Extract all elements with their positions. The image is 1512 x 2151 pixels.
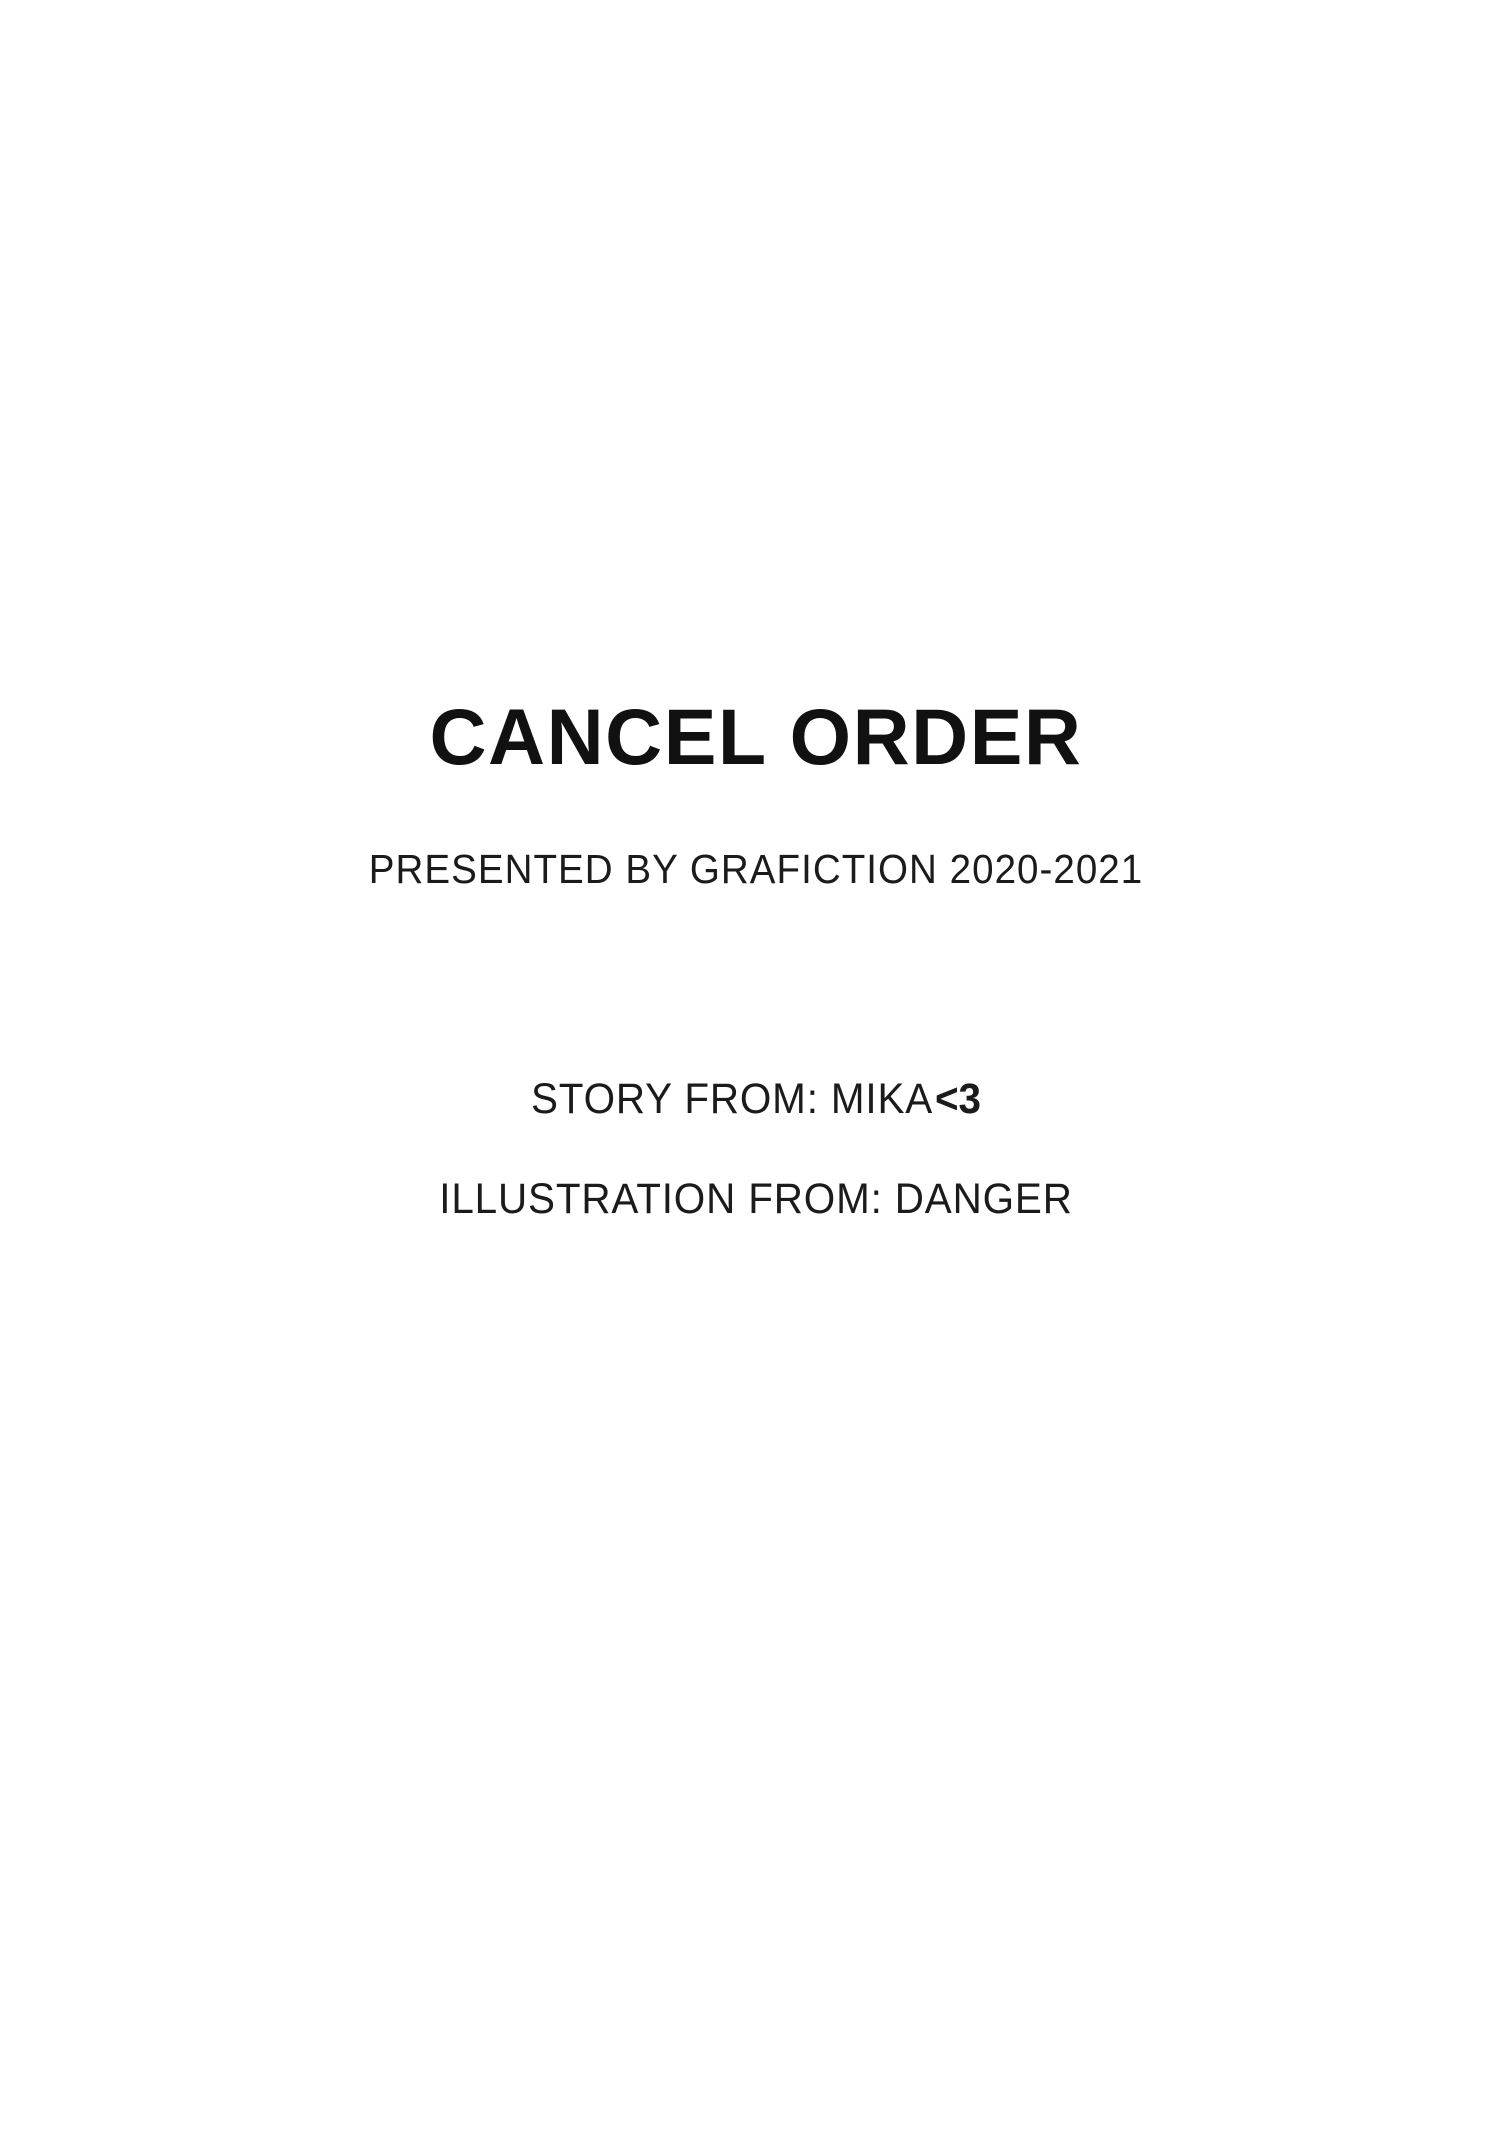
heart-emoticon-icon: <3 (935, 1075, 981, 1123)
story-credit-label: STORY FROM: MIKA (531, 1075, 933, 1123)
illustration-credit-line: ILLUSTRATION FROM: DANGER (45, 1172, 1466, 1226)
title-page: CANCEL ORDER PRESENTED BY GRAFICTION 202… (0, 0, 1512, 2151)
page-title: CANCEL ORDER (0, 689, 1512, 785)
story-credit-line: STORY FROM: MIKA<3 (45, 1072, 1466, 1126)
presented-by-line: PRESENTED BY GRAFICTION 2020-2021 (45, 842, 1466, 896)
